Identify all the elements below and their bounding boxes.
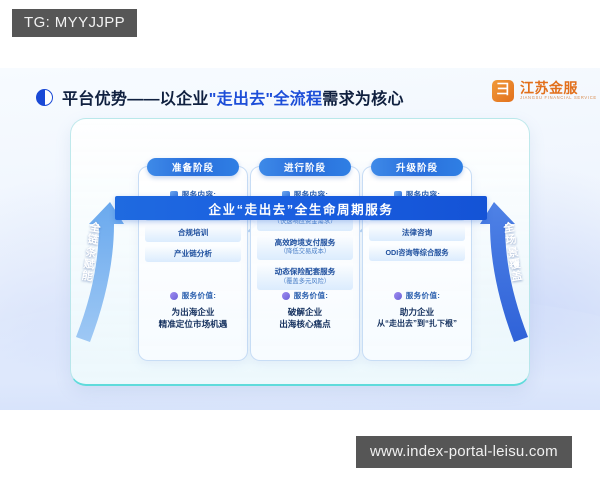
right-arrow-label: 全 场 景 覆 盖 [481, 218, 546, 288]
service-value-label: 服务价值: [363, 290, 471, 301]
list-item[interactable]: ODI咨询等综合服务 [369, 245, 465, 261]
value-line: 助力企业 [367, 306, 467, 318]
service-value-text: 服务价值: [406, 290, 441, 301]
page-title: 平台优势——以企业"走出去"全流程需求为核心 [36, 85, 404, 109]
stage-badge: 升级阶段 [371, 158, 463, 176]
lifecycle-banner: 企业“走出去”全生命周期服务 [115, 196, 487, 220]
value-line: 为出海企业 [143, 306, 243, 318]
brand-mark-icon: 彐 [492, 80, 514, 102]
list-item[interactable]: 法律咨询 [369, 225, 465, 241]
half-filled-circle-icon [36, 89, 53, 106]
item-title: 动态保险配套服务 [259, 267, 351, 276]
left-arrow-label: 全 链 条 赋 能 [59, 218, 124, 288]
item-title: 产业链分析 [147, 249, 239, 258]
slide-canvas: 平台优势——以企业"走出去"全流程需求为核心 彐 江苏金服 JIANGSU FI… [0, 68, 600, 410]
star-icon [394, 292, 402, 300]
star-icon [170, 292, 178, 300]
list-item[interactable]: 高效跨境支付服务 （降低交易成本） [257, 235, 353, 261]
url-watermark-badge: www.index-portal-leisu.com [356, 436, 572, 468]
list-item[interactable]: 合规培训 [145, 225, 241, 241]
stage-badge: 准备阶段 [147, 158, 239, 176]
page-title-text: 平台优势——以企业"走出去"全流程需求为核心 [62, 85, 404, 109]
item-subtitle: （覆盖多元风险） [259, 278, 351, 286]
item-subtitle: （降低交易成本） [259, 248, 351, 256]
tg-watermark-badge: TG: MYYJJPP [12, 9, 137, 37]
service-value-label: 服务价值: [139, 290, 247, 301]
title-highlight: "走出去"全流程 [209, 91, 323, 108]
brand-text: 江苏金服 JIANGSU FINANCIAL SERVICE [520, 81, 584, 100]
service-value-text: 服务价值: [182, 290, 217, 301]
value-line: 破解企业 [255, 306, 355, 318]
service-value-box: 破解企业 出海核心痛点 [255, 306, 355, 331]
service-value-text: 服务价值: [294, 290, 329, 301]
brand-name-cn: 江苏金服 [520, 81, 584, 95]
service-value-box: 助力企业 从“走出去”到“扎下根” [367, 306, 467, 330]
stage-badge: 进行阶段 [259, 158, 351, 176]
item-title: 法律咨询 [371, 228, 463, 237]
brand-name-en: JIANGSU FINANCIAL SERVICE [520, 97, 597, 101]
value-line: 精准定位市场机遇 [143, 318, 243, 330]
title-prefix: 平台优势——以企业 [62, 91, 209, 108]
item-title: 高效跨境支付服务 [259, 238, 351, 247]
service-value-box: 为出海企业 精准定位市场机遇 [143, 306, 243, 331]
brand-logo: 彐 江苏金服 JIANGSU FINANCIAL SERVICE [492, 80, 584, 102]
item-title: ODI咨询等综合服务 [371, 248, 463, 257]
list-item[interactable]: 产业链分析 [145, 246, 241, 262]
service-value-label: 服务价值: [251, 290, 359, 301]
star-icon [282, 292, 290, 300]
title-suffix: 需求为核心 [322, 91, 404, 108]
list-item[interactable]: 动态保险配套服务 （覆盖多元风险） [257, 264, 353, 290]
value-line: 出海核心痛点 [255, 318, 355, 330]
value-line: 从“走出去”到“扎下根” [367, 318, 467, 330]
arrow-char: 能 [81, 270, 94, 284]
item-title: 合规培训 [147, 228, 239, 237]
arrow-char: 盖 [510, 270, 523, 284]
